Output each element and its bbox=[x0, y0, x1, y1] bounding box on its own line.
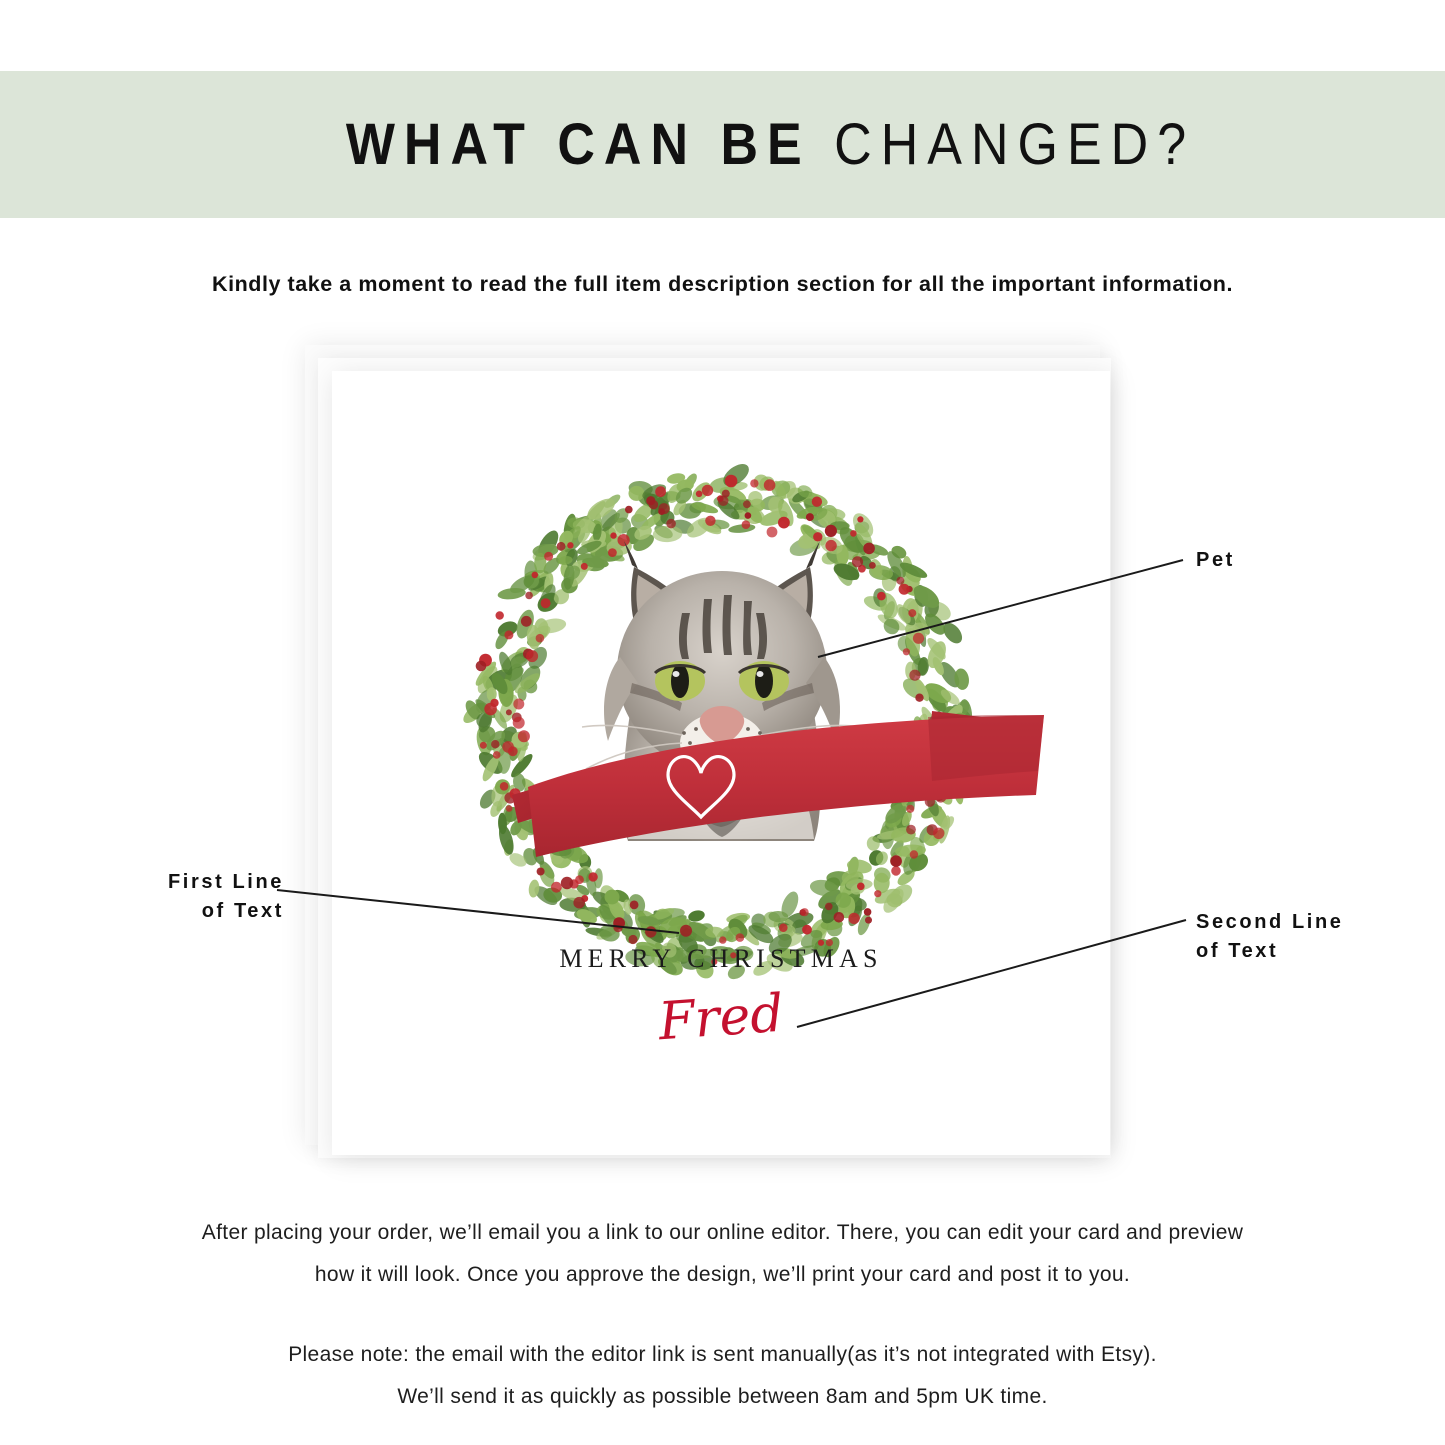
page-root: WHAT CAN BE CHANGED? Kindly take a momen… bbox=[0, 0, 1445, 1445]
page-title-light: CHANGED? bbox=[811, 112, 1195, 177]
subtitle-note: Kindly take a moment to read the full it… bbox=[0, 272, 1445, 297]
annotation-first-line-2: of Text bbox=[36, 897, 284, 926]
footer-description: After placing your order, we’ll email yo… bbox=[0, 1212, 1445, 1418]
annotation-first-line-1: First Line bbox=[36, 868, 284, 897]
page-title: WHAT CAN BE CHANGED? bbox=[346, 115, 1195, 173]
annotation-label-pet: Pet bbox=[1196, 546, 1235, 575]
header-band: WHAT CAN BE CHANGED? bbox=[0, 71, 1445, 218]
annotation-pet-text: Pet bbox=[1196, 549, 1235, 571]
footer-para1-line1: After placing your order, we’ll email yo… bbox=[0, 1212, 1445, 1254]
annotation-label-second-line: Second Line of Text bbox=[1196, 908, 1344, 966]
footer-para2-line1: Please note: the email with the editor l… bbox=[0, 1334, 1445, 1376]
footer-para1-line2: how it will look. Once you approve the d… bbox=[0, 1254, 1445, 1296]
annotation-second-line-2: of Text bbox=[1196, 937, 1344, 966]
page-title-bold: WHAT CAN BE bbox=[346, 112, 811, 177]
annotation-label-first-line: First Line of Text bbox=[36, 868, 284, 926]
footer-para2-line2: We’ll send it as quickly as possible bet… bbox=[0, 1376, 1445, 1418]
annotation-second-line-1: Second Line bbox=[1196, 908, 1344, 937]
